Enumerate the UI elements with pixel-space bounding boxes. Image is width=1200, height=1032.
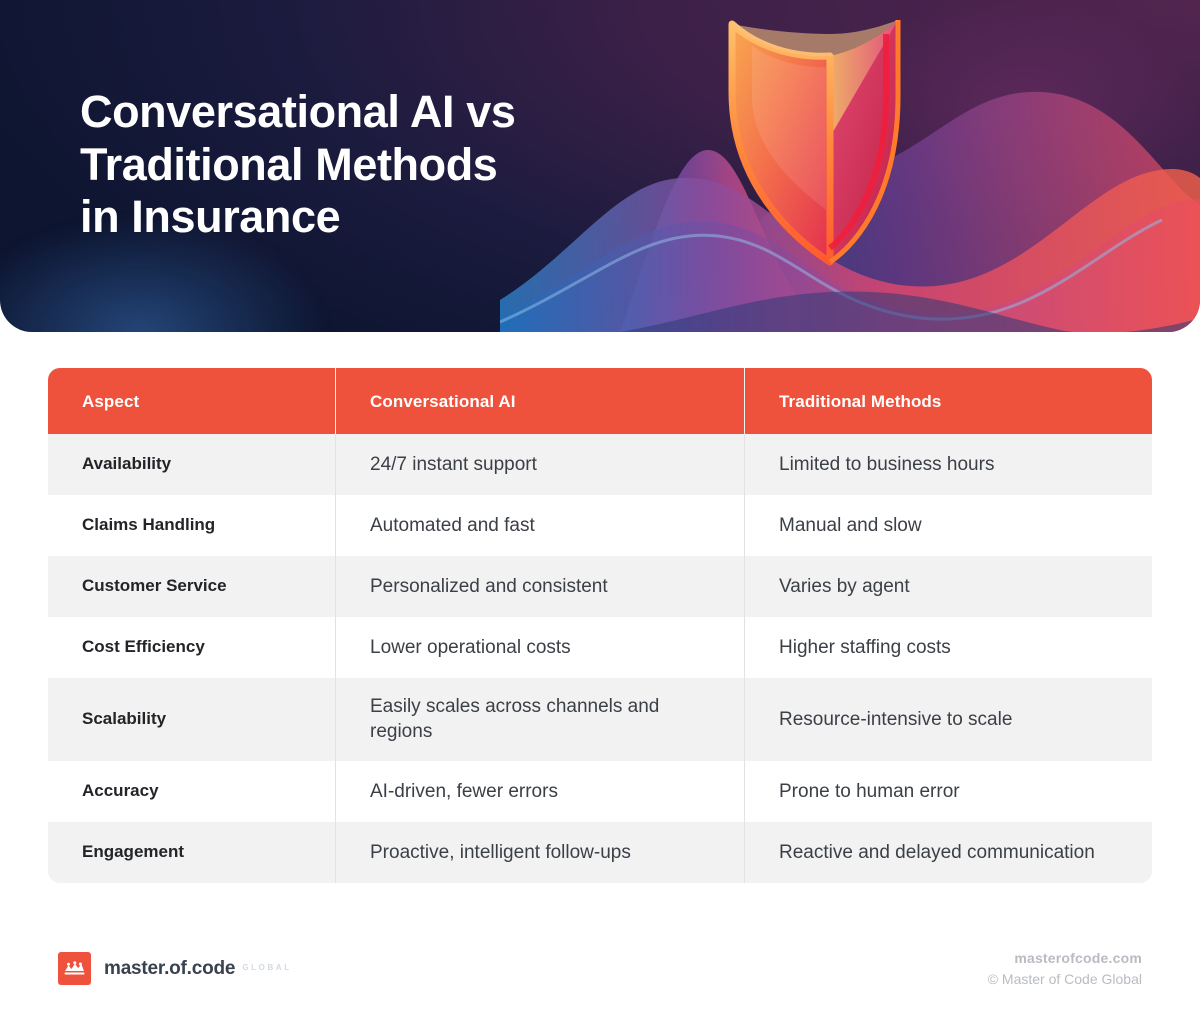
table-row: Customer Service Personalized and consis… (48, 556, 1152, 617)
footer-copyright: © Master of Code Global (988, 971, 1142, 987)
hero-banner: Conversational AI vs Traditional Methods… (0, 0, 1200, 332)
cell-conversational-ai: Personalized and consistent (370, 574, 608, 599)
table-header-row: Aspect Conversational AI Traditional Met… (48, 368, 1152, 434)
cell-traditional: Manual and slow (779, 513, 922, 538)
cell-conversational-ai: Easily scales across channels and region… (370, 694, 718, 745)
table-row: Cost Efficiency Lower operational costs … (48, 617, 1152, 678)
brand-logo-text: master.of.code (104, 958, 235, 980)
footer: master.of.code GLOBAL masterofcode.com ©… (0, 934, 1200, 1032)
table-row: Engagement Proactive, intelligent follow… (48, 822, 1152, 883)
table-row: Accuracy AI-driven, fewer errors Prone t… (48, 761, 1152, 822)
cell-traditional: Prone to human error (779, 779, 960, 804)
table-row: Claims Handling Automated and fast Manua… (48, 495, 1152, 556)
column-header-conversational-ai: Conversational AI (335, 368, 744, 434)
cell-aspect: Scalability (82, 708, 166, 730)
column-header-aspect: Aspect (48, 368, 335, 434)
cell-aspect: Claims Handling (82, 514, 215, 536)
cell-conversational-ai: Proactive, intelligent follow-ups (370, 840, 631, 865)
comparison-table: Aspect Conversational AI Traditional Met… (48, 368, 1152, 883)
cell-traditional: Higher staffing costs (779, 635, 951, 660)
infographic-page: Conversational AI vs Traditional Methods… (0, 0, 1200, 1032)
cell-aspect: Engagement (82, 841, 184, 863)
cell-traditional: Reactive and delayed communication (779, 840, 1095, 865)
cell-aspect: Cost Efficiency (82, 636, 205, 658)
table-row: Scalability Easily scales across channel… (48, 678, 1152, 761)
footer-website[interactable]: masterofcode.com (988, 950, 1142, 966)
cell-aspect: Availability (82, 453, 171, 475)
footer-credits: masterofcode.com © Master of Code Global (988, 950, 1142, 987)
masterofcode-logo-icon (58, 952, 91, 985)
cell-traditional: Limited to business hours (779, 452, 994, 477)
brand-logo[interactable]: master.of.code GLOBAL (58, 952, 292, 985)
table-row: Availability 24/7 instant support Limite… (48, 434, 1152, 495)
cell-conversational-ai: Automated and fast (370, 513, 535, 538)
brand-logo-subtext: GLOBAL (242, 963, 291, 974)
cell-conversational-ai: AI-driven, fewer errors (370, 779, 558, 804)
cell-traditional: Varies by agent (779, 574, 910, 599)
column-header-traditional-methods: Traditional Methods (744, 368, 1152, 434)
cell-aspect: Accuracy (82, 780, 159, 802)
cell-conversational-ai: 24/7 instant support (370, 452, 537, 477)
cell-aspect: Customer Service (82, 575, 227, 597)
cell-conversational-ai: Lower operational costs (370, 635, 571, 660)
page-title: Conversational AI vs Traditional Methods… (80, 86, 640, 244)
cell-traditional: Resource-intensive to scale (779, 707, 1012, 732)
